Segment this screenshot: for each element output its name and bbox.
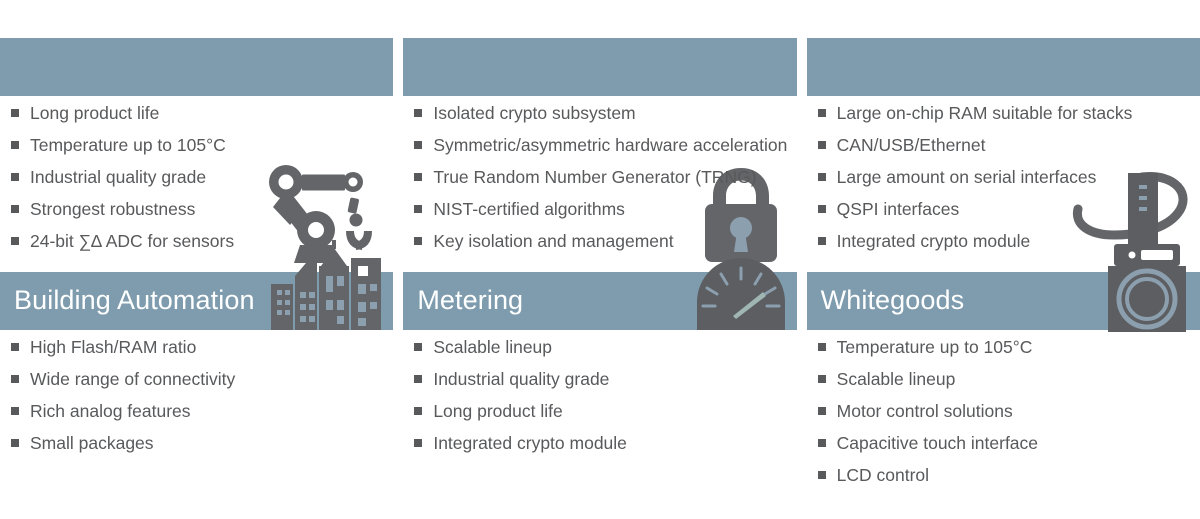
bullet-icon	[414, 439, 422, 447]
feature-label: Integrated crypto module	[837, 231, 1031, 252]
feature-label: Key isolation and management	[433, 231, 673, 252]
feature-label: Integrated crypto module	[433, 433, 627, 454]
bullet-icon	[818, 407, 826, 415]
list-item: Isolated crypto subsystem	[403, 103, 796, 135]
list-item: Temperature up to 105°C	[807, 337, 1200, 369]
card-building-automation: Building Automation	[0, 262, 393, 519]
list-item: Long product life	[403, 401, 796, 433]
feature-label: NIST-certified algorithms	[433, 199, 625, 220]
feature-list-connectivity: Large on-chip RAM suitable for stacks CA…	[807, 103, 1200, 263]
list-item: Small packages	[0, 433, 393, 465]
feature-list-whitegoods: Temperature up to 105°C Scalable lineup …	[807, 337, 1200, 497]
list-item: Temperature up to 105°C	[0, 135, 393, 167]
feature-label: Industrial quality grade	[433, 369, 609, 390]
bullet-icon	[11, 439, 19, 447]
list-item: True Random Number Generator (TRNG)	[403, 167, 796, 199]
feature-label: 24-bit ∑∆ ADC for sensors	[30, 231, 234, 252]
feature-list-security: Isolated crypto subsystem Symmetric/asym…	[403, 103, 796, 263]
list-item: Long product life	[0, 103, 393, 135]
feature-label: LCD control	[837, 465, 929, 486]
feature-label: Temperature up to 105°C	[30, 135, 226, 156]
card-connectivity: Connectivity Large on-chip RAM suitable …	[807, 0, 1200, 262]
feature-label: Large on-chip RAM suitable for stacks	[837, 103, 1133, 124]
bullet-icon	[818, 471, 826, 479]
bullet-icon	[11, 343, 19, 351]
bullet-icon	[414, 237, 422, 245]
list-item: Integrated crypto module	[807, 231, 1200, 263]
list-item: Symmetric/asymmetric hardware accelerati…	[403, 135, 796, 167]
feature-label: CAN/USB/Ethernet	[837, 135, 986, 156]
feature-list-metering: Scalable lineup Industrial quality grade…	[403, 337, 796, 465]
bullet-icon	[818, 173, 826, 181]
card-header-industrial-automation	[0, 38, 393, 96]
application-segments-board: Industrial Automation	[0, 0, 1200, 519]
bullet-icon	[11, 237, 19, 245]
bullet-icon	[414, 141, 422, 149]
list-item: Large amount on serial interfaces	[807, 167, 1200, 199]
list-item: High Flash/RAM ratio	[0, 337, 393, 369]
list-item: Scalable lineup	[807, 369, 1200, 401]
card-title-building-automation: Building Automation	[14, 285, 255, 316]
list-item: Industrial quality grade	[403, 369, 796, 401]
feature-list-industrial-automation: Long product life Temperature up to 105°…	[0, 103, 393, 263]
bullet-icon	[818, 375, 826, 383]
feature-label: Temperature up to 105°C	[837, 337, 1033, 358]
list-item: CAN/USB/Ethernet	[807, 135, 1200, 167]
list-item: QSPI interfaces	[807, 199, 1200, 231]
card-header-connectivity	[807, 38, 1200, 96]
bullet-icon	[414, 407, 422, 415]
feature-label: Capacitive touch interface	[837, 433, 1038, 454]
feature-label: QSPI interfaces	[837, 199, 960, 220]
bullet-icon	[414, 173, 422, 181]
list-item: LCD control	[807, 465, 1200, 497]
bullet-icon	[818, 343, 826, 351]
list-item: Rich analog features	[0, 401, 393, 433]
bullet-icon	[818, 237, 826, 245]
bullet-icon	[414, 375, 422, 383]
feature-label: True Random Number Generator (TRNG)	[433, 167, 756, 188]
card-title-whitegoods: Whitegoods	[821, 285, 965, 316]
list-item: Strongest robustness	[0, 199, 393, 231]
list-item: Large on-chip RAM suitable for stacks	[807, 103, 1200, 135]
feature-label: Long product life	[433, 401, 562, 422]
list-item: NIST-certified algorithms	[403, 199, 796, 231]
feature-label: Industrial quality grade	[30, 167, 206, 188]
bullet-icon	[414, 205, 422, 213]
bullet-icon	[818, 205, 826, 213]
bullet-icon	[414, 109, 422, 117]
feature-label: Small packages	[30, 433, 154, 454]
feature-label: Large amount on serial interfaces	[837, 167, 1097, 188]
feature-label: Isolated crypto subsystem	[433, 103, 635, 124]
bullet-icon	[11, 407, 19, 415]
feature-label: Long product life	[30, 103, 159, 124]
list-item: Integrated crypto module	[403, 433, 796, 465]
card-whitegoods: Whitegoods Temperature up to 105°C Scala…	[807, 262, 1200, 519]
feature-list-building-automation: High Flash/RAM ratio Wide range of conne…	[0, 337, 393, 465]
list-item: Scalable lineup	[403, 337, 796, 369]
card-title-metering: Metering	[417, 285, 523, 316]
feature-label: Motor control solutions	[837, 401, 1013, 422]
card-industrial-automation: Industrial Automation	[0, 0, 393, 262]
bullet-icon	[414, 343, 422, 351]
list-item: 24-bit ∑∆ ADC for sensors	[0, 231, 393, 263]
card-grid: Industrial Automation	[0, 0, 1200, 519]
feature-label: Wide range of connectivity	[30, 369, 235, 390]
feature-label: Scalable lineup	[433, 337, 552, 358]
card-security: Security Isolated crypto subsystem Symme…	[403, 0, 796, 262]
card-header-security	[403, 38, 796, 96]
list-item: Industrial quality grade	[0, 167, 393, 199]
feature-label: Rich analog features	[30, 401, 191, 422]
bullet-icon	[11, 375, 19, 383]
bullet-icon	[818, 109, 826, 117]
bullet-icon	[11, 141, 19, 149]
list-item: Capacitive touch interface	[807, 433, 1200, 465]
list-item: Key isolation and management	[403, 231, 796, 263]
bullet-icon	[818, 141, 826, 149]
bullet-icon	[818, 439, 826, 447]
feature-label: High Flash/RAM ratio	[30, 337, 196, 358]
list-item: Wide range of connectivity	[0, 369, 393, 401]
card-metering: Metering Scalable	[403, 262, 796, 519]
bullet-icon	[11, 205, 19, 213]
bullet-icon	[11, 109, 19, 117]
feature-label: Symmetric/asymmetric hardware accelerati…	[433, 135, 787, 156]
list-item: Motor control solutions	[807, 401, 1200, 433]
feature-label: Strongest robustness	[30, 199, 195, 220]
feature-label: Scalable lineup	[837, 369, 956, 390]
bullet-icon	[11, 173, 19, 181]
